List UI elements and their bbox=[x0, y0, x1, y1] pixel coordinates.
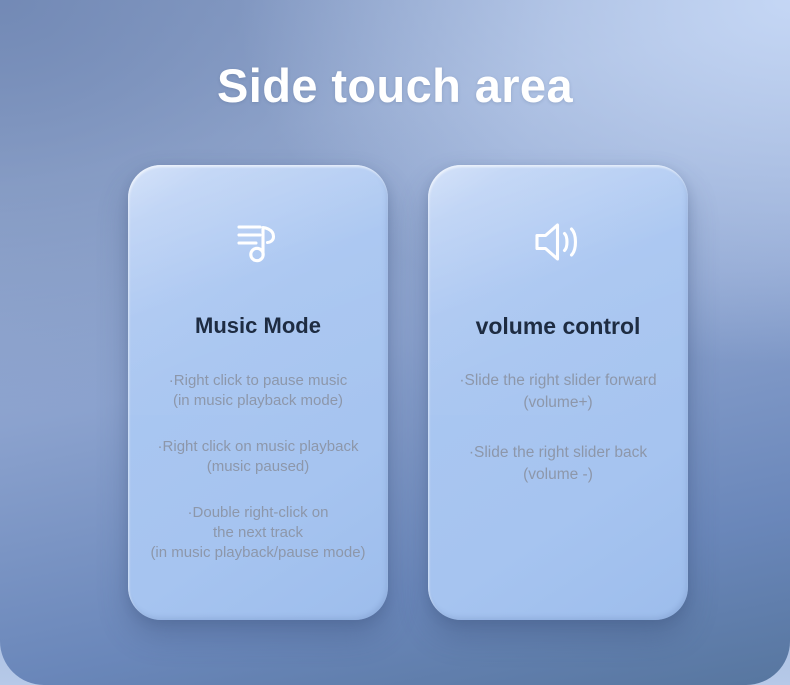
content-panel: Side touch area Music Mode ·Right click … bbox=[0, 0, 790, 685]
card-music-mode-content: Music Mode ·Right click to pause music (… bbox=[128, 165, 388, 620]
screenshot-canvas: Side touch area Music Mode ·Right click … bbox=[0, 0, 790, 685]
card-music-mode-body-line-3: ·Double right-click on the next track (i… bbox=[146, 503, 369, 563]
card-volume-control-body-line-2: ·Slide the right slider back (volume -) bbox=[465, 442, 651, 486]
card-music-mode-title: Music Mode bbox=[195, 313, 321, 339]
card-volume-control[interactable]: volume control ·Slide the right slider f… bbox=[428, 165, 688, 620]
card-music-mode-body-line-2: ·Right click on music playback (music pa… bbox=[154, 437, 363, 477]
card-music-mode-body: ·Right click to pause music (in music pl… bbox=[128, 371, 388, 589]
page-title: Side touch area bbox=[0, 57, 790, 115]
card-music-mode[interactable]: Music Mode ·Right click to pause music (… bbox=[128, 165, 388, 620]
card-volume-control-body-line-1: ·Slide the right slider forward (volume+… bbox=[455, 370, 660, 414]
card-music-mode-body-line-1: ·Right click to pause music (in music pl… bbox=[165, 371, 351, 411]
card-volume-control-title: volume control bbox=[476, 313, 641, 340]
card-volume-control-content: volume control ·Slide the right slider f… bbox=[428, 165, 688, 620]
speaker-volume-icon bbox=[530, 213, 586, 271]
music-playlist-note-icon bbox=[230, 213, 286, 271]
card-volume-control-body: ·Slide the right slider forward (volume+… bbox=[428, 370, 688, 514]
